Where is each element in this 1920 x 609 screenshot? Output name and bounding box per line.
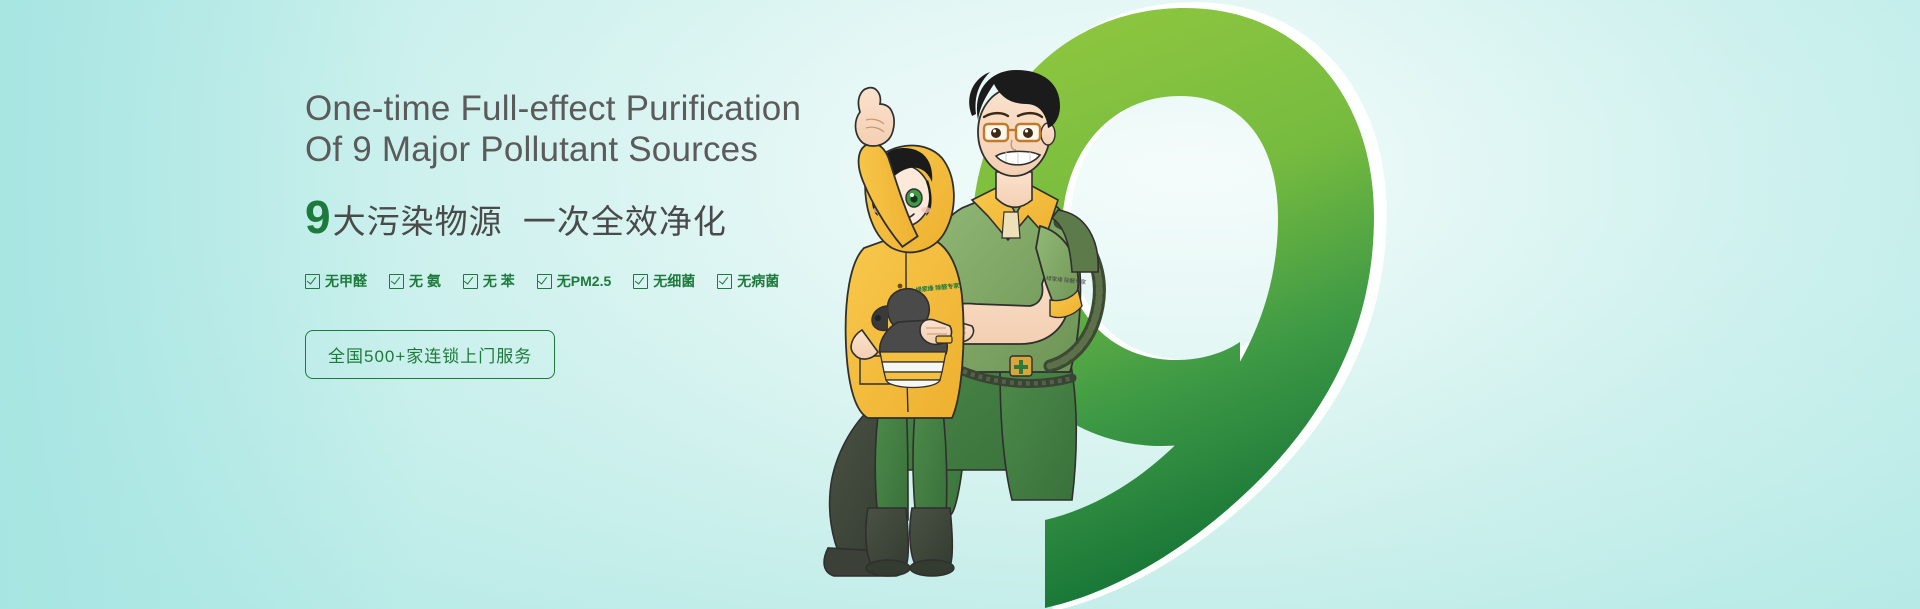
checkbox-checked-icon	[463, 274, 478, 289]
promo-banner: 绿家缘 除醛专家	[0, 0, 1920, 609]
checkbox-checked-icon	[717, 274, 732, 289]
headline-english: One-time Full-effect Purification Of 9 M…	[305, 88, 865, 170]
feature-list: 无甲醛 无 氨 无 苯 无PM2.5 无细菌 无病菌	[305, 271, 865, 291]
headline-chinese: 9 大污染物源 一次全效净化	[305, 194, 865, 243]
checkbox-checked-icon	[305, 274, 320, 289]
feature-item: 无细菌	[633, 271, 695, 291]
feature-label: 无甲醛	[325, 271, 367, 291]
feature-label: 无PM2.5	[557, 271, 611, 291]
banner-text-column: One-time Full-effect Purification Of 9 M…	[305, 88, 865, 379]
feature-item: 无 氨	[389, 271, 441, 291]
headline-chinese-rest: 大污染物源 一次全效净化	[333, 195, 727, 243]
nationwide-service-button[interactable]: 全国500+家连锁上门服务	[305, 330, 555, 379]
feature-item: 无病菌	[717, 271, 779, 291]
checkbox-checked-icon	[537, 274, 552, 289]
feature-label: 无细菌	[653, 271, 695, 291]
feature-item: 无 苯	[463, 271, 515, 291]
checkbox-checked-icon	[633, 274, 648, 289]
feature-item: 无甲醛	[305, 271, 367, 291]
feature-label: 无 氨	[409, 271, 441, 291]
headline-number-nine: 9	[305, 194, 331, 240]
banner-artwork: 绿家缘 除醛专家	[0, 0, 1920, 609]
feature-label: 无 苯	[483, 271, 515, 291]
checkbox-checked-icon	[389, 274, 404, 289]
feature-label: 无病菌	[737, 271, 779, 291]
feature-item: 无PM2.5	[537, 271, 611, 291]
